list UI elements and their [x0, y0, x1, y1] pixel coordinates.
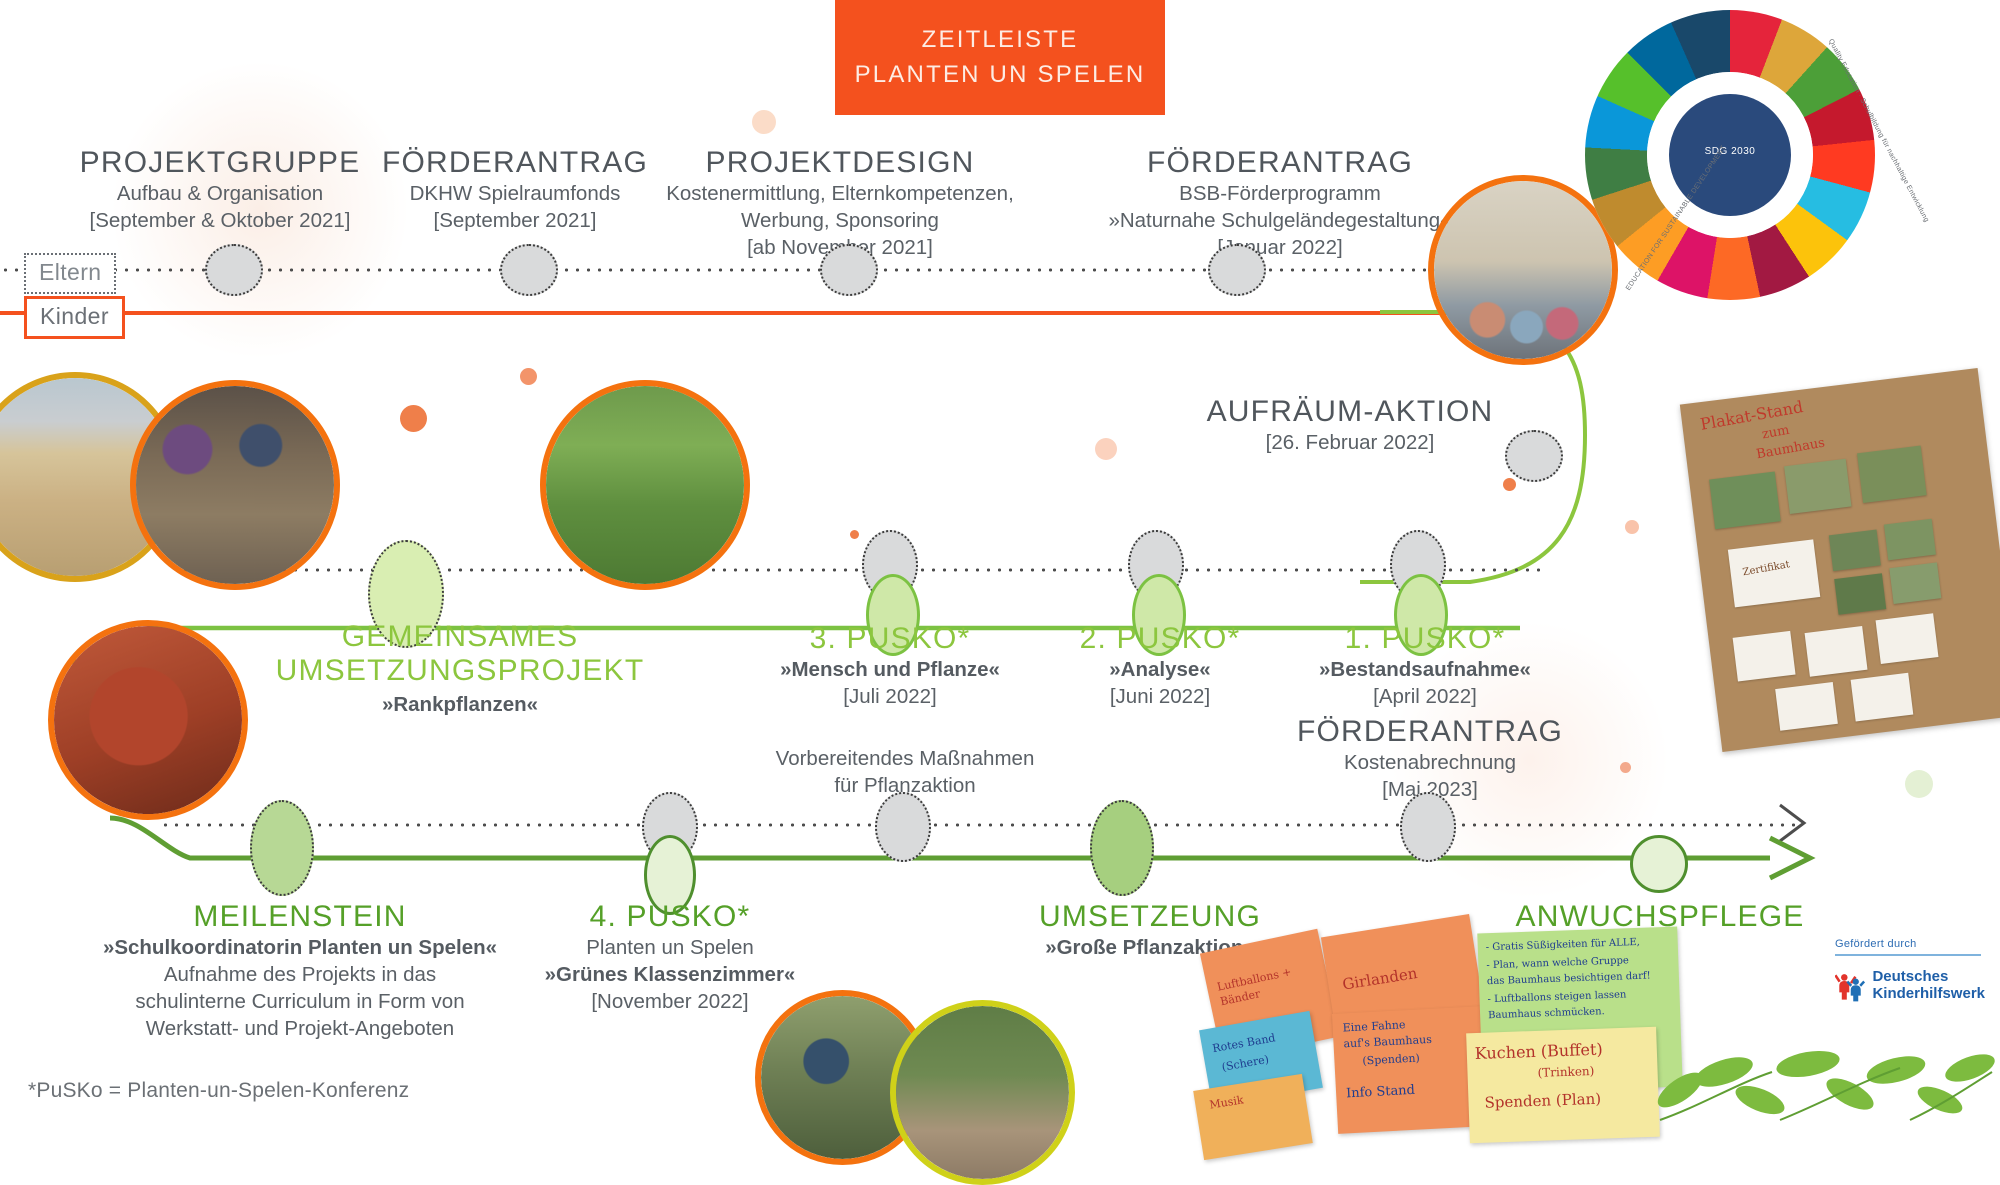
page-title: ZEITLEISTE PLANTEN UN SPELEN	[835, 0, 1165, 115]
sticky-text: Luftballons + Bänder	[1216, 958, 1330, 1010]
children-timeline-line	[0, 311, 1470, 315]
title-line-1: ZEITLEISTE	[922, 23, 1079, 58]
bg-dot-orange-1	[752, 110, 776, 134]
event-subtitle: Kostenabrechnung	[1265, 749, 1595, 776]
sponsor-funded-by: Gefördert durch	[1835, 938, 1985, 950]
lane-tag-eltern: Eltern	[24, 253, 116, 294]
bg-dot-orange-4	[1095, 438, 1117, 460]
event-heading-line-2: UMSETZUNGSPROJEKT	[230, 654, 690, 688]
bg-dot-orange-7	[1620, 762, 1631, 773]
event-heading: PROJEKTGRUPPE	[60, 146, 380, 180]
sdg-center-label: SDG 2030	[1669, 146, 1791, 157]
photo-meadow	[540, 380, 750, 590]
event-subtitle: BSB-Förderprogramm	[1055, 180, 1505, 207]
sponsor-name-line-2: Kinderhilfswerk	[1872, 986, 1985, 1003]
pinboard-photo: Plakat-Stand zum Baumhaus Zertifikat	[1680, 368, 2000, 752]
timeline-node-r1-2[interactable]	[500, 244, 558, 296]
event-subtitle-2: »Grünes Klassenzimmer«	[520, 961, 820, 988]
timeline-node-r1-1[interactable]	[205, 244, 263, 296]
event-body-3: Werkstatt- und Projekt-Angeboten	[60, 1015, 540, 1042]
event-date: [September & Oktober 2021]	[60, 207, 380, 234]
event-subtitle: Kostenermittlung, Elternkompetenzen,	[620, 180, 1060, 207]
timeline-node-r3-3[interactable]	[1400, 792, 1456, 862]
sticky-text-line-1: - Gratis Süßigkeiten für ALLE,	[1486, 936, 1641, 955]
sticky-text-line-2: auf's Baumhaus	[1343, 1033, 1432, 1052]
event-heading: 1. PUSKO*	[1255, 622, 1595, 656]
pinboard-note-4	[1775, 682, 1838, 731]
event-foerderantrag-dkhw: FÖRDERANTRAG DKHW Spielraumfonds [Septem…	[370, 146, 660, 234]
event-heading: FÖRDERANTRAG	[370, 146, 660, 180]
event-heading-line-1: GEMEINSAMES	[230, 620, 690, 654]
sticky-note-kuchen: Kuchen (Buffet) (Trinken) Spenden (Plan)	[1466, 1027, 1660, 1144]
event-heading: PROJEKTDESIGN	[620, 146, 1060, 180]
title-line-2: PLANTEN UN SPELEN	[855, 58, 1146, 93]
pinboard-photo-2	[1784, 459, 1851, 514]
event-heading: AUFRÄUM-AKTION	[1185, 395, 1515, 429]
timeline-node-r3-2[interactable]	[875, 792, 931, 862]
sticky-text-line-1: Kuchen (Buffet)	[1474, 1039, 1603, 1065]
sticky-text-line-3: Spenden (Plan)	[1484, 1089, 1601, 1113]
event-pusko-1: 1. PUSKO* »Bestandsaufnahme« [April 2022…	[1255, 622, 1595, 710]
prep-line-1: Vorbereitendes Maßnahmen	[730, 745, 1080, 772]
children-timeline-line-row3	[110, 790, 1810, 900]
pinboard-note-3	[1876, 613, 1939, 664]
sticky-text-line-3: (Spenden)	[1362, 1051, 1420, 1069]
sticky-text-line-4: - Luftballons steigen lassen	[1487, 988, 1626, 1006]
pinboard-note-zertifikat	[1728, 539, 1820, 607]
event-heading: UMSETZEUNG	[1000, 900, 1300, 934]
photo-classroom	[1428, 175, 1618, 365]
infographic-canvas: ZEITLEISTE PLANTEN UN SPELEN PROJEKTGRUP…	[0, 0, 2000, 1125]
timeline-node-r1-4[interactable]	[1208, 244, 1266, 296]
pinboard-photo-7	[1889, 562, 1941, 604]
timeline-node-umsetzung[interactable]	[1090, 800, 1154, 896]
sponsor-block: Gefördert durch Deutsches Kin	[1835, 938, 1985, 1007]
event-heading: FÖRDERANTRAG	[1265, 715, 1595, 749]
timeline-node-anwuchspflege[interactable]	[1630, 835, 1688, 893]
event-pusko-3: 3. PUSKO* »Mensch und Pflanze« [Juli 202…	[730, 622, 1050, 710]
pinboard-photo-3	[1857, 446, 1927, 503]
event-subtitle: Aufbau & Organisation	[60, 180, 380, 207]
sticky-text-line-2: (Trinken)	[1537, 1063, 1594, 1081]
pinboard-photo-6	[1834, 573, 1886, 615]
event-projektdesign: PROJEKTDESIGN Kostenermittlung, Elternko…	[620, 146, 1060, 261]
event-subtitle-1: Planten un Spelen	[520, 934, 820, 961]
bg-dot-orange-3	[400, 405, 427, 432]
photo-digging	[130, 380, 340, 590]
timeline-node-r1-3[interactable]	[820, 244, 878, 296]
pinboard-photo-4	[1829, 530, 1881, 572]
sticky-note-fahne: Eine Fahne auf's Baumhaus (Spenden) Info…	[1332, 1006, 1488, 1134]
sticky-text: Girlanden	[1341, 963, 1419, 995]
timeline-node-aufraeum[interactable]	[1505, 430, 1563, 482]
sticky-text-line-1: Eine Fahne	[1342, 1018, 1405, 1036]
event-pusko-4: 4. PUSKO* Planten un Spelen »Grünes Klas…	[520, 900, 820, 1015]
event-subtitle: »Mensch und Pflanze«	[730, 656, 1050, 683]
pinboard-photo-5	[1884, 519, 1936, 561]
event-heading: FÖRDERANTRAG	[1055, 146, 1505, 180]
event-date: [September 2021]	[370, 207, 660, 234]
sticky-text-line-4: Info Stand	[1346, 1082, 1416, 1103]
sdg-wheel-graphic: SDG 2030 Quality Education · Schulbildun…	[1585, 10, 1875, 300]
sponsor-name-line-1: Deutsches	[1872, 969, 1985, 986]
pinboard-note-5	[1851, 673, 1914, 722]
event-subtitle: »Schulkoordinatorin Planten un Spelen«	[60, 934, 540, 961]
bg-dot-green-1	[1905, 770, 1933, 798]
event-gemeinsames-umsetzungsprojekt: GEMEINSAMES UMSETZUNGSPROJEKT »Rankpflan…	[230, 620, 690, 718]
event-aufraeum-aktion: AUFRÄUM-AKTION [26. Februar 2022]	[1185, 395, 1515, 456]
photo-group	[890, 1000, 1075, 1185]
footnote-pusko: *PuSKo = Planten-un-Spelen-Konferenz	[28, 1079, 409, 1103]
timeline-node-meilenstein[interactable]	[250, 800, 314, 896]
sticky-text-line-3: das Baumhaus besichtigen darf!	[1487, 970, 1651, 989]
event-meilenstein: MEILENSTEIN »Schulkoordinatorin Planten …	[60, 900, 540, 1042]
pinboard-title-line-2: zum	[1761, 423, 1791, 443]
bg-dot-orange-2	[520, 368, 537, 385]
sticky-text: Musik	[1209, 1093, 1245, 1113]
pinboard-photo-1	[1709, 472, 1781, 530]
event-date: [Juli 2022]	[730, 683, 1050, 710]
sponsor-divider	[1835, 954, 1981, 956]
event-subtitle-2: Werbung, Sponsoring	[620, 207, 1060, 234]
kinderhilfswerk-figures-icon	[1835, 965, 1866, 1007]
lane-tag-kinder: Kinder	[24, 296, 125, 339]
event-body-2: schulinterne Curriculum in Form von	[60, 988, 540, 1015]
sticky-text-line-2: (Schere)	[1221, 1053, 1271, 1076]
sticky-text-line-2: - Plan, wann welche Gruppe	[1486, 954, 1629, 972]
sticky-text-line-5: Baumhaus schmücken.	[1488, 1005, 1605, 1023]
event-date: [November 2022]	[520, 988, 820, 1015]
event-subtitle: »Rankpflanzen«	[230, 691, 690, 718]
event-subtitle: »Bestandsaufnahme«	[1255, 656, 1595, 683]
foliage-decoration	[1640, 1020, 2000, 1130]
event-date: [April 2022]	[1255, 683, 1595, 710]
pinboard-note-1	[1733, 631, 1796, 682]
event-heading: 3. PUSKO*	[730, 622, 1050, 656]
event-subtitle: DKHW Spielraumfonds	[370, 180, 660, 207]
pinboard-note-2	[1805, 626, 1868, 677]
bg-dot-orange-8	[850, 530, 859, 539]
event-date: [26. Februar 2022]	[1185, 429, 1515, 456]
event-heading: MEILENSTEIN	[60, 900, 540, 934]
event-projektgruppe: PROJEKTGRUPPE Aufbau & Organisation [Sep…	[60, 146, 380, 234]
event-heading: 4. PUSKO*	[520, 900, 820, 934]
event-body-1: Aufnahme des Projekts in das	[60, 961, 540, 988]
